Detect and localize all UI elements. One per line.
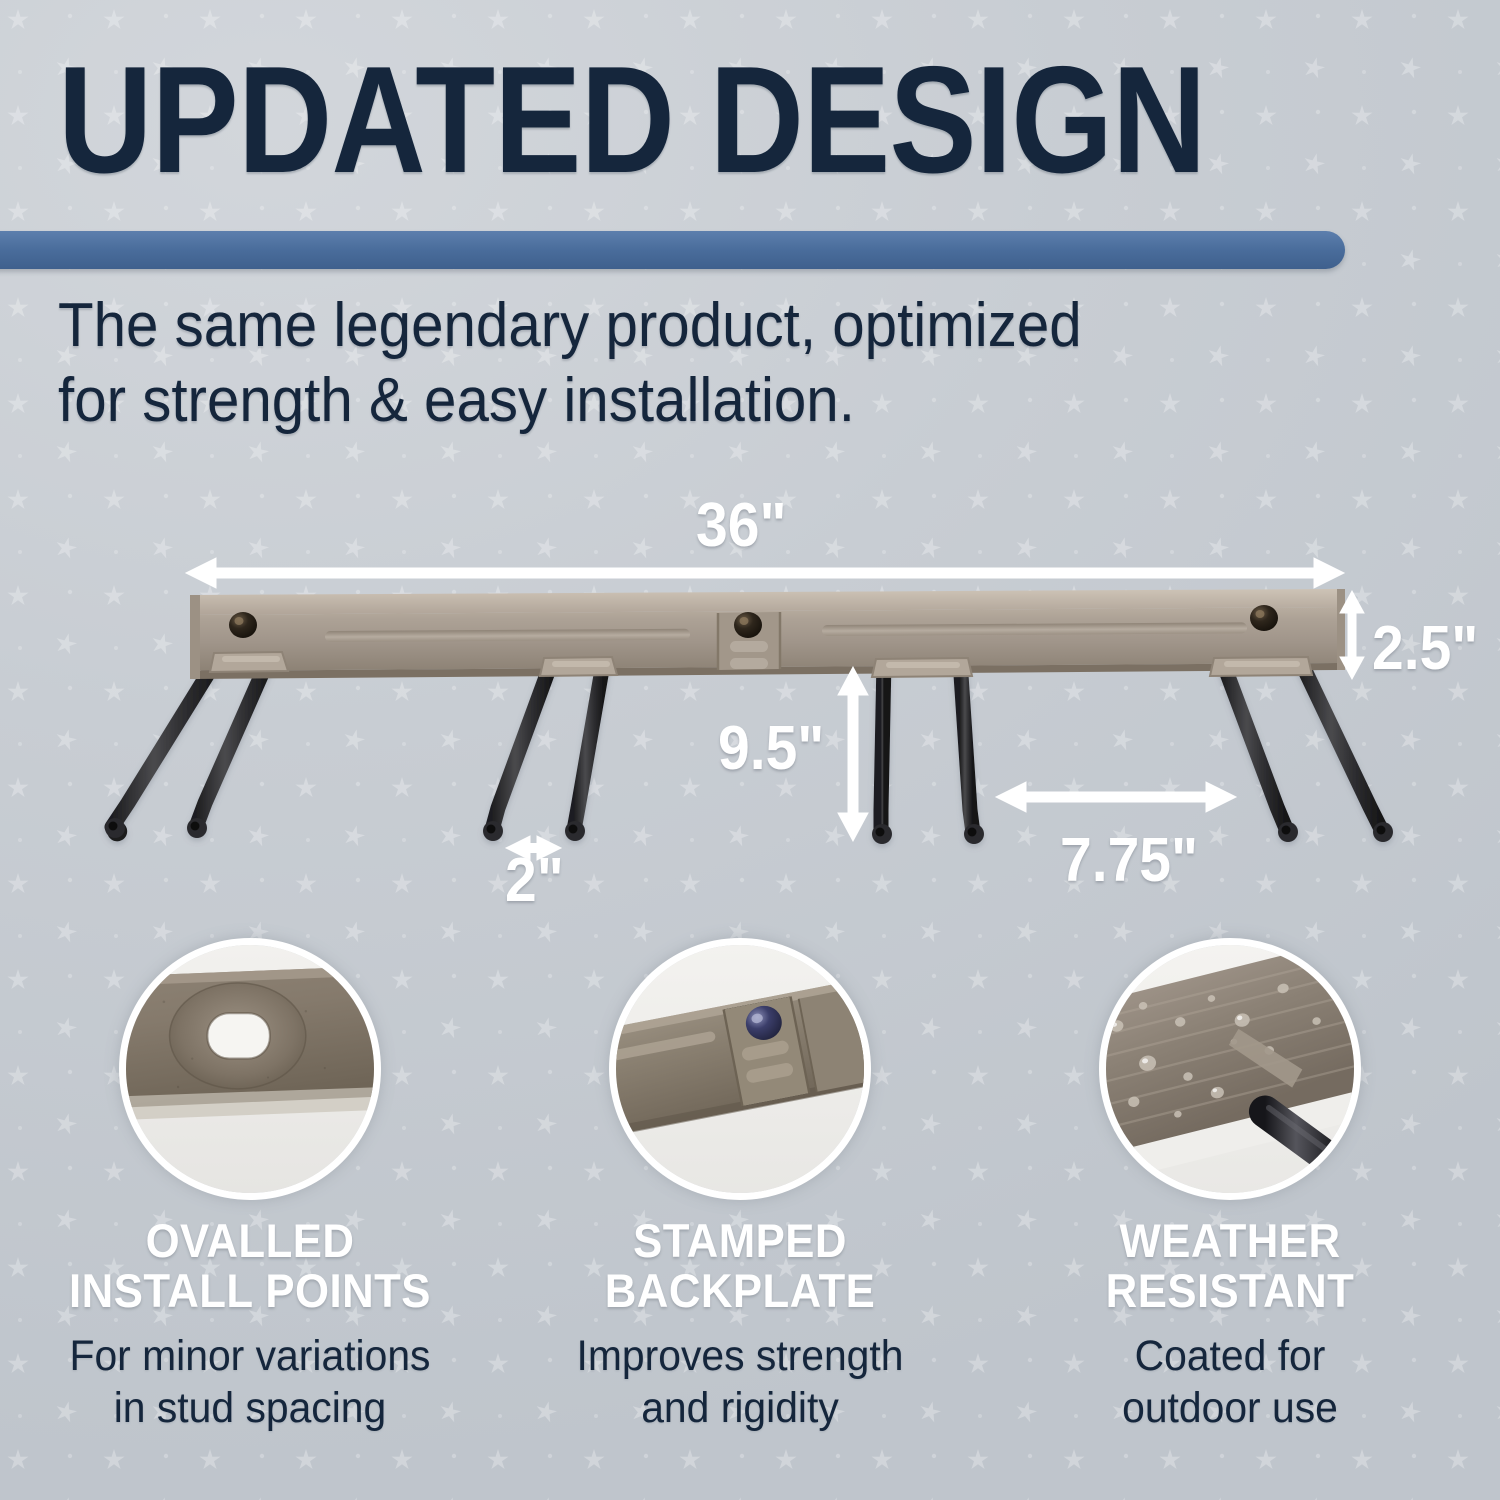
product-illustration: 36" 2.5" 9.5" 7.75" 2" [0,455,1500,935]
feature-title: WEATHER RESISTANT [990,1216,1470,1316]
accent-rule-divider [0,231,1345,269]
feature-subtitle: Improves strength and rigidity [500,1330,980,1434]
feature-title-line-1: WEATHER [1007,1216,1453,1266]
feature-subtitle-line-2: outdoor use [1002,1382,1458,1434]
feature-subtitle-line-1: Coated for [1002,1330,1458,1382]
feature-title-line-1: STAMPED [517,1216,963,1266]
feature-title-line-2: INSTALL POINTS [27,1266,473,1316]
feature-card-weather-resistant: WEATHER RESISTANT Coated for outdoor use [990,938,1470,1434]
feature-subtitle: For minor variations in stud spacing [10,1330,490,1434]
bolt-center [734,612,762,638]
dimension-label-arm-pair-spacing: 7.75" [1060,825,1198,896]
feature-title: OVALLED INSTALL POINTS [10,1216,490,1316]
feature-subtitle: Coated for outdoor use [990,1330,1470,1434]
feature-image-water-beading [1099,938,1361,1200]
page-subtitle: The same legendary product, optimized fo… [58,288,1336,438]
page-title: UPDATED DESIGN [58,44,1206,196]
subtitle-line-2: for strength & easy installation. [58,363,1336,438]
feature-title: STAMPED BACKPLATE [500,1216,980,1316]
feature-title-line-2: RESISTANT [1007,1266,1453,1316]
feature-subtitle-line-1: Improves strength [512,1330,968,1382]
feature-card-stamped-backplate: STAMPED BACKPLATE Improves strength and … [500,938,980,1434]
feature-image-ovalled-install-point [119,938,381,1200]
dimension-label-length: 36" [696,490,786,561]
dimension-label-arm-gap: 2" [505,845,564,916]
dimension-label-arm-drop: 9.5" [718,713,824,784]
feature-subtitle-line-2: and rigidity [512,1382,968,1434]
bolt-right [1250,605,1278,631]
feature-title-line-1: OVALLED [27,1216,473,1266]
feature-subtitle-line-2: in stud spacing [22,1382,478,1434]
subtitle-line-1: The same legendary product, optimized [58,288,1336,363]
feature-subtitle-line-1: For minor variations [22,1330,478,1382]
dimension-label-plate-height: 2.5" [1372,613,1478,684]
infographic-canvas: UPDATED DESIGN The same legendary produc… [0,0,1500,1500]
feature-title-line-2: BACKPLATE [517,1266,963,1316]
feature-card-ovalled-install-points: OVALLED INSTALL POINTS For minor variati… [10,938,490,1434]
bolt-left [229,612,257,638]
feature-image-stamped-backplate [609,938,871,1200]
